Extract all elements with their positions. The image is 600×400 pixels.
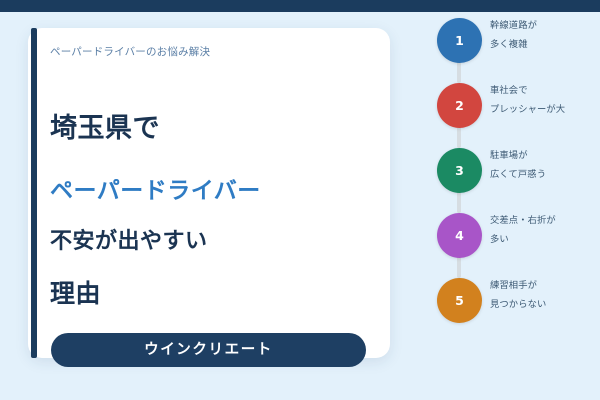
timeline-item[interactable]: 5練習相手が見つからない [430,276,600,334]
eyebrow-label: ペーパードライバーのお悩み解決 [50,44,210,59]
timeline-label-line: 交差点・右折が [490,211,600,230]
timeline-item-label: 交差点・右折が多い [490,211,600,249]
timeline-label-line: 多い [490,230,600,249]
reasons-timeline: 1幹線道路が多く複雑2車社会でプレッシャーが大3駐車場が広くて戸惑う4交差点・右… [430,16,600,386]
cta-button[interactable]: ウインクリエート [51,333,366,367]
timeline-item[interactable]: 3駐車場が広くて戸惑う [430,146,600,204]
timeline-item[interactable]: 4交差点・右折が多い [430,211,600,269]
timeline-item-label: 駐車場が広くて戸惑う [490,146,600,184]
timeline-label-line: 車社会で [490,81,600,100]
timeline-label-line: 広くて戸惑う [490,165,600,184]
timeline-step-badge: 2 [437,83,482,128]
timeline-label-line: プレッシャーが大 [490,100,600,119]
timeline-step-badge: 4 [437,213,482,258]
card-accent-bar [31,28,37,358]
headline-card: ペーパードライバーのお悩み解決 埼玉県で ペーパードライバー 不安が出やすい 理… [28,28,390,358]
headline-line-3: 不安が出やすい [50,223,208,255]
top-accent-bar [0,0,600,12]
timeline-label-line: 駐車場が [490,146,600,165]
timeline-step-badge: 3 [437,148,482,193]
headline-line-2: ペーパードライバー [50,171,261,205]
slide-root: ペーパードライバーのお悩み解決 埼玉県で ペーパードライバー 不安が出やすい 理… [0,0,600,400]
timeline-label-line: 見つからない [490,295,600,314]
headline-line-4: 理由 [50,274,101,310]
timeline-label-line: 練習相手が [490,276,600,295]
timeline-item[interactable]: 2車社会でプレッシャーが大 [430,81,600,139]
card-content: ペーパードライバーのお悩み解決 埼玉県で ペーパードライバー 不安が出やすい 理… [50,28,374,358]
timeline-item-label: 練習相手が見つからない [490,276,600,314]
timeline-label-line: 多く複雑 [490,35,600,54]
timeline-step-badge: 5 [437,278,482,323]
headline-line-1: 埼玉県で [50,106,160,145]
timeline-item[interactable]: 1幹線道路が多く複雑 [430,16,600,74]
timeline-step-badge: 1 [437,18,482,63]
timeline-item-label: 幹線道路が多く複雑 [490,16,600,54]
timeline-label-line: 幹線道路が [490,16,600,35]
timeline-item-label: 車社会でプレッシャーが大 [490,81,600,119]
